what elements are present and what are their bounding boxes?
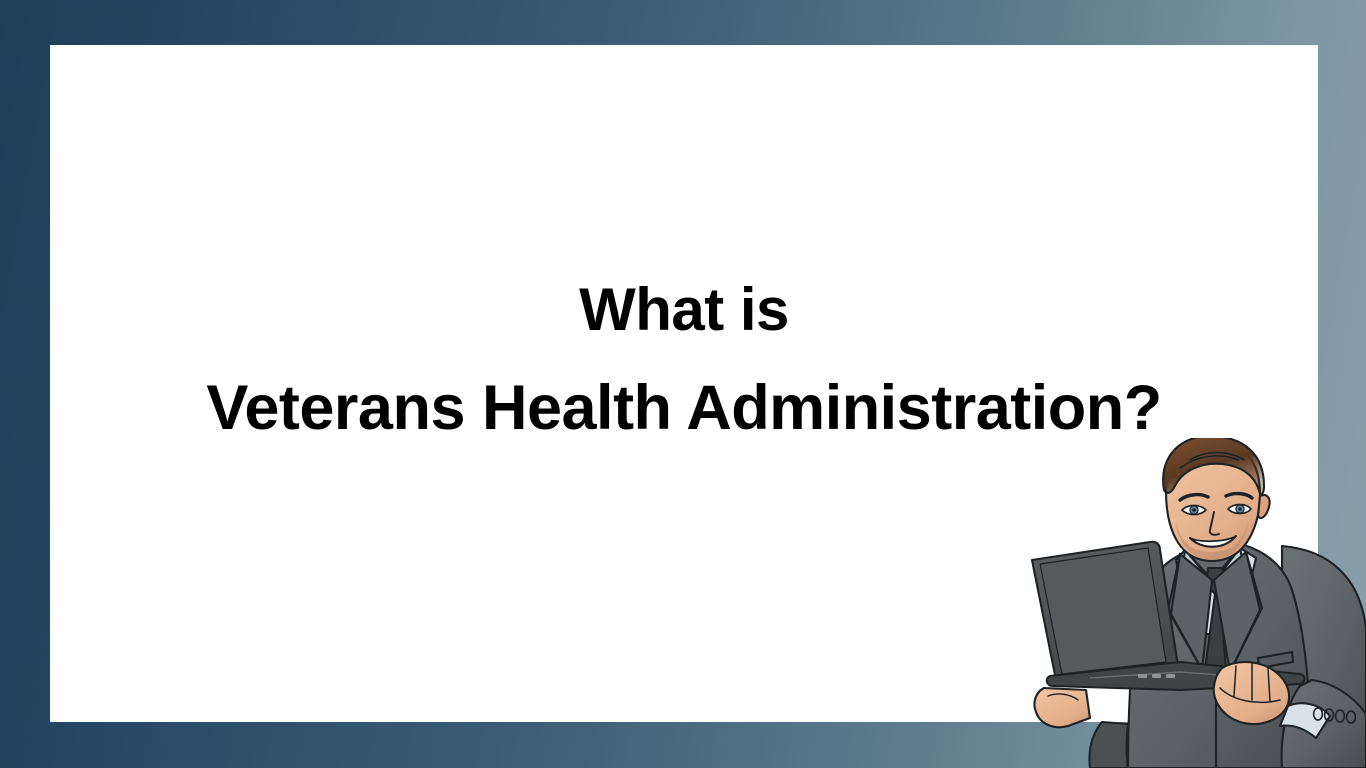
content-card: What is Veterans Health Administration? bbox=[50, 45, 1318, 722]
headline-line-1: What is bbox=[50, 280, 1318, 340]
slide-canvas: What is Veterans Health Administration? bbox=[0, 0, 1366, 768]
headline-line-2: Veterans Health Administration? bbox=[50, 377, 1318, 440]
